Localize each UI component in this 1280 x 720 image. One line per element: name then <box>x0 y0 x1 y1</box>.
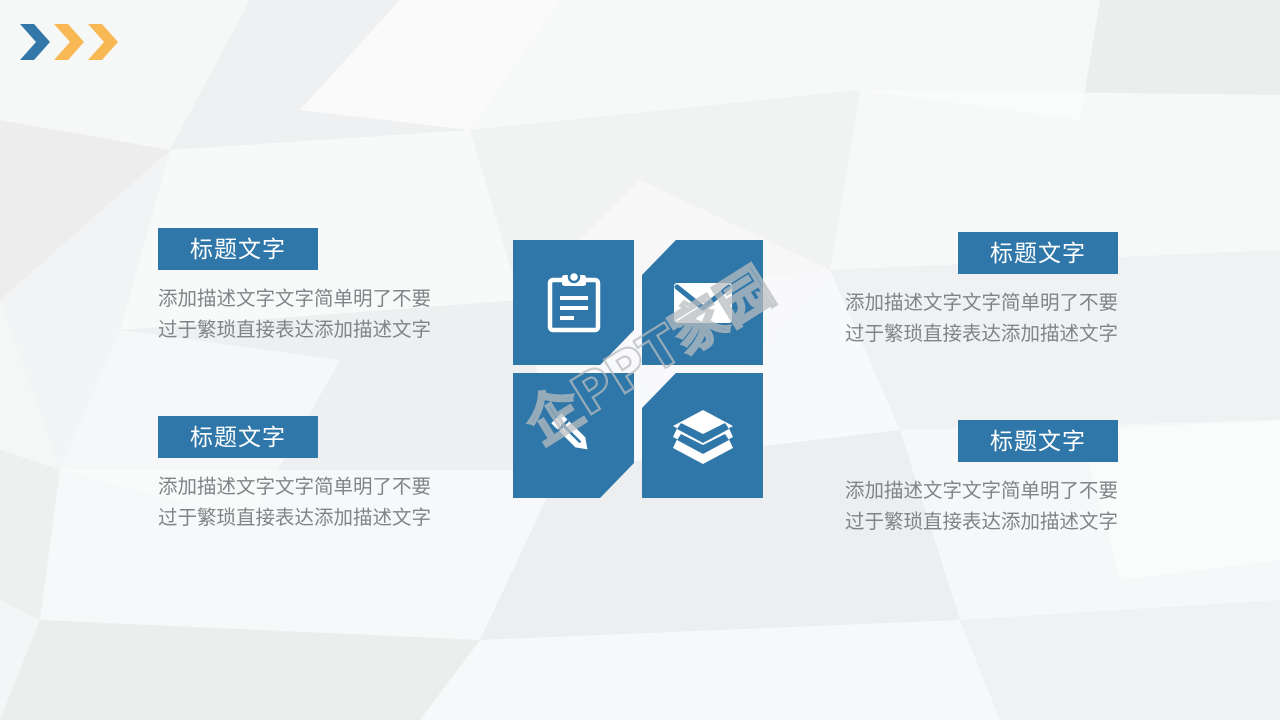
chevron-3-icon <box>88 24 118 60</box>
text-block-bottom-right: 标题文字 添加描述文字文字简单明了不要 过于繁琐直接表达添加描述文字 <box>798 420 1118 538</box>
block-desc-line-2: 过于繁琐直接表达添加描述文字 <box>158 503 478 534</box>
mail-icon <box>672 279 734 327</box>
block-desc-line-1: 添加描述文字文字简单明了不要 <box>798 288 1118 319</box>
clipboard-icon <box>546 272 602 334</box>
icon-tile-group <box>513 240 763 498</box>
block-title-top-left[interactable]: 标题文字 <box>158 228 318 270</box>
text-block-top-left: 标题文字 添加描述文字文字简单明了不要 过于繁琐直接表达添加描述文字 <box>158 228 478 346</box>
chevron-logo <box>18 22 128 62</box>
tile-pencil[interactable] <box>513 373 634 498</box>
text-block-bottom-left: 标题文字 添加描述文字文字简单明了不要 过于繁琐直接表达添加描述文字 <box>158 416 478 534</box>
layers-icon <box>671 408 735 464</box>
block-desc-line-2: 过于繁琐直接表达添加描述文字 <box>798 507 1118 538</box>
block-desc-line-2: 过于繁琐直接表达添加描述文字 <box>798 319 1118 350</box>
block-desc-line-1: 添加描述文字文字简单明了不要 <box>158 472 478 503</box>
block-description-top-left: 添加描述文字文字简单明了不要 过于繁琐直接表达添加描述文字 <box>158 284 478 346</box>
block-desc-line-1: 添加描述文字文字简单明了不要 <box>158 284 478 315</box>
block-title-bottom-left[interactable]: 标题文字 <box>158 416 318 458</box>
block-desc-line-1: 添加描述文字文字简单明了不要 <box>798 476 1118 507</box>
text-block-top-right: 标题文字 添加描述文字文字简单明了不要 过于繁琐直接表达添加描述文字 <box>798 232 1118 350</box>
tile-clipboard[interactable] <box>513 240 634 365</box>
block-description-bottom-left: 添加描述文字文字简单明了不要 过于繁琐直接表达添加描述文字 <box>158 472 478 534</box>
block-desc-line-2: 过于繁琐直接表达添加描述文字 <box>158 315 478 346</box>
block-title-bottom-right[interactable]: 标题文字 <box>958 420 1118 462</box>
chevron-2-icon <box>54 24 84 60</box>
pencil-icon <box>543 405 605 467</box>
chevron-1-icon <box>20 24 50 60</box>
tile-layers[interactable] <box>642 373 763 498</box>
slide-canvas: 标题文字 添加描述文字文字简单明了不要 过于繁琐直接表达添加描述文字 标题文字 … <box>0 0 1280 720</box>
tile-mail[interactable] <box>642 240 763 365</box>
block-description-bottom-right: 添加描述文字文字简单明了不要 过于繁琐直接表达添加描述文字 <box>798 476 1118 538</box>
block-description-top-right: 添加描述文字文字简单明了不要 过于繁琐直接表达添加描述文字 <box>798 288 1118 350</box>
block-title-top-right[interactable]: 标题文字 <box>958 232 1118 274</box>
